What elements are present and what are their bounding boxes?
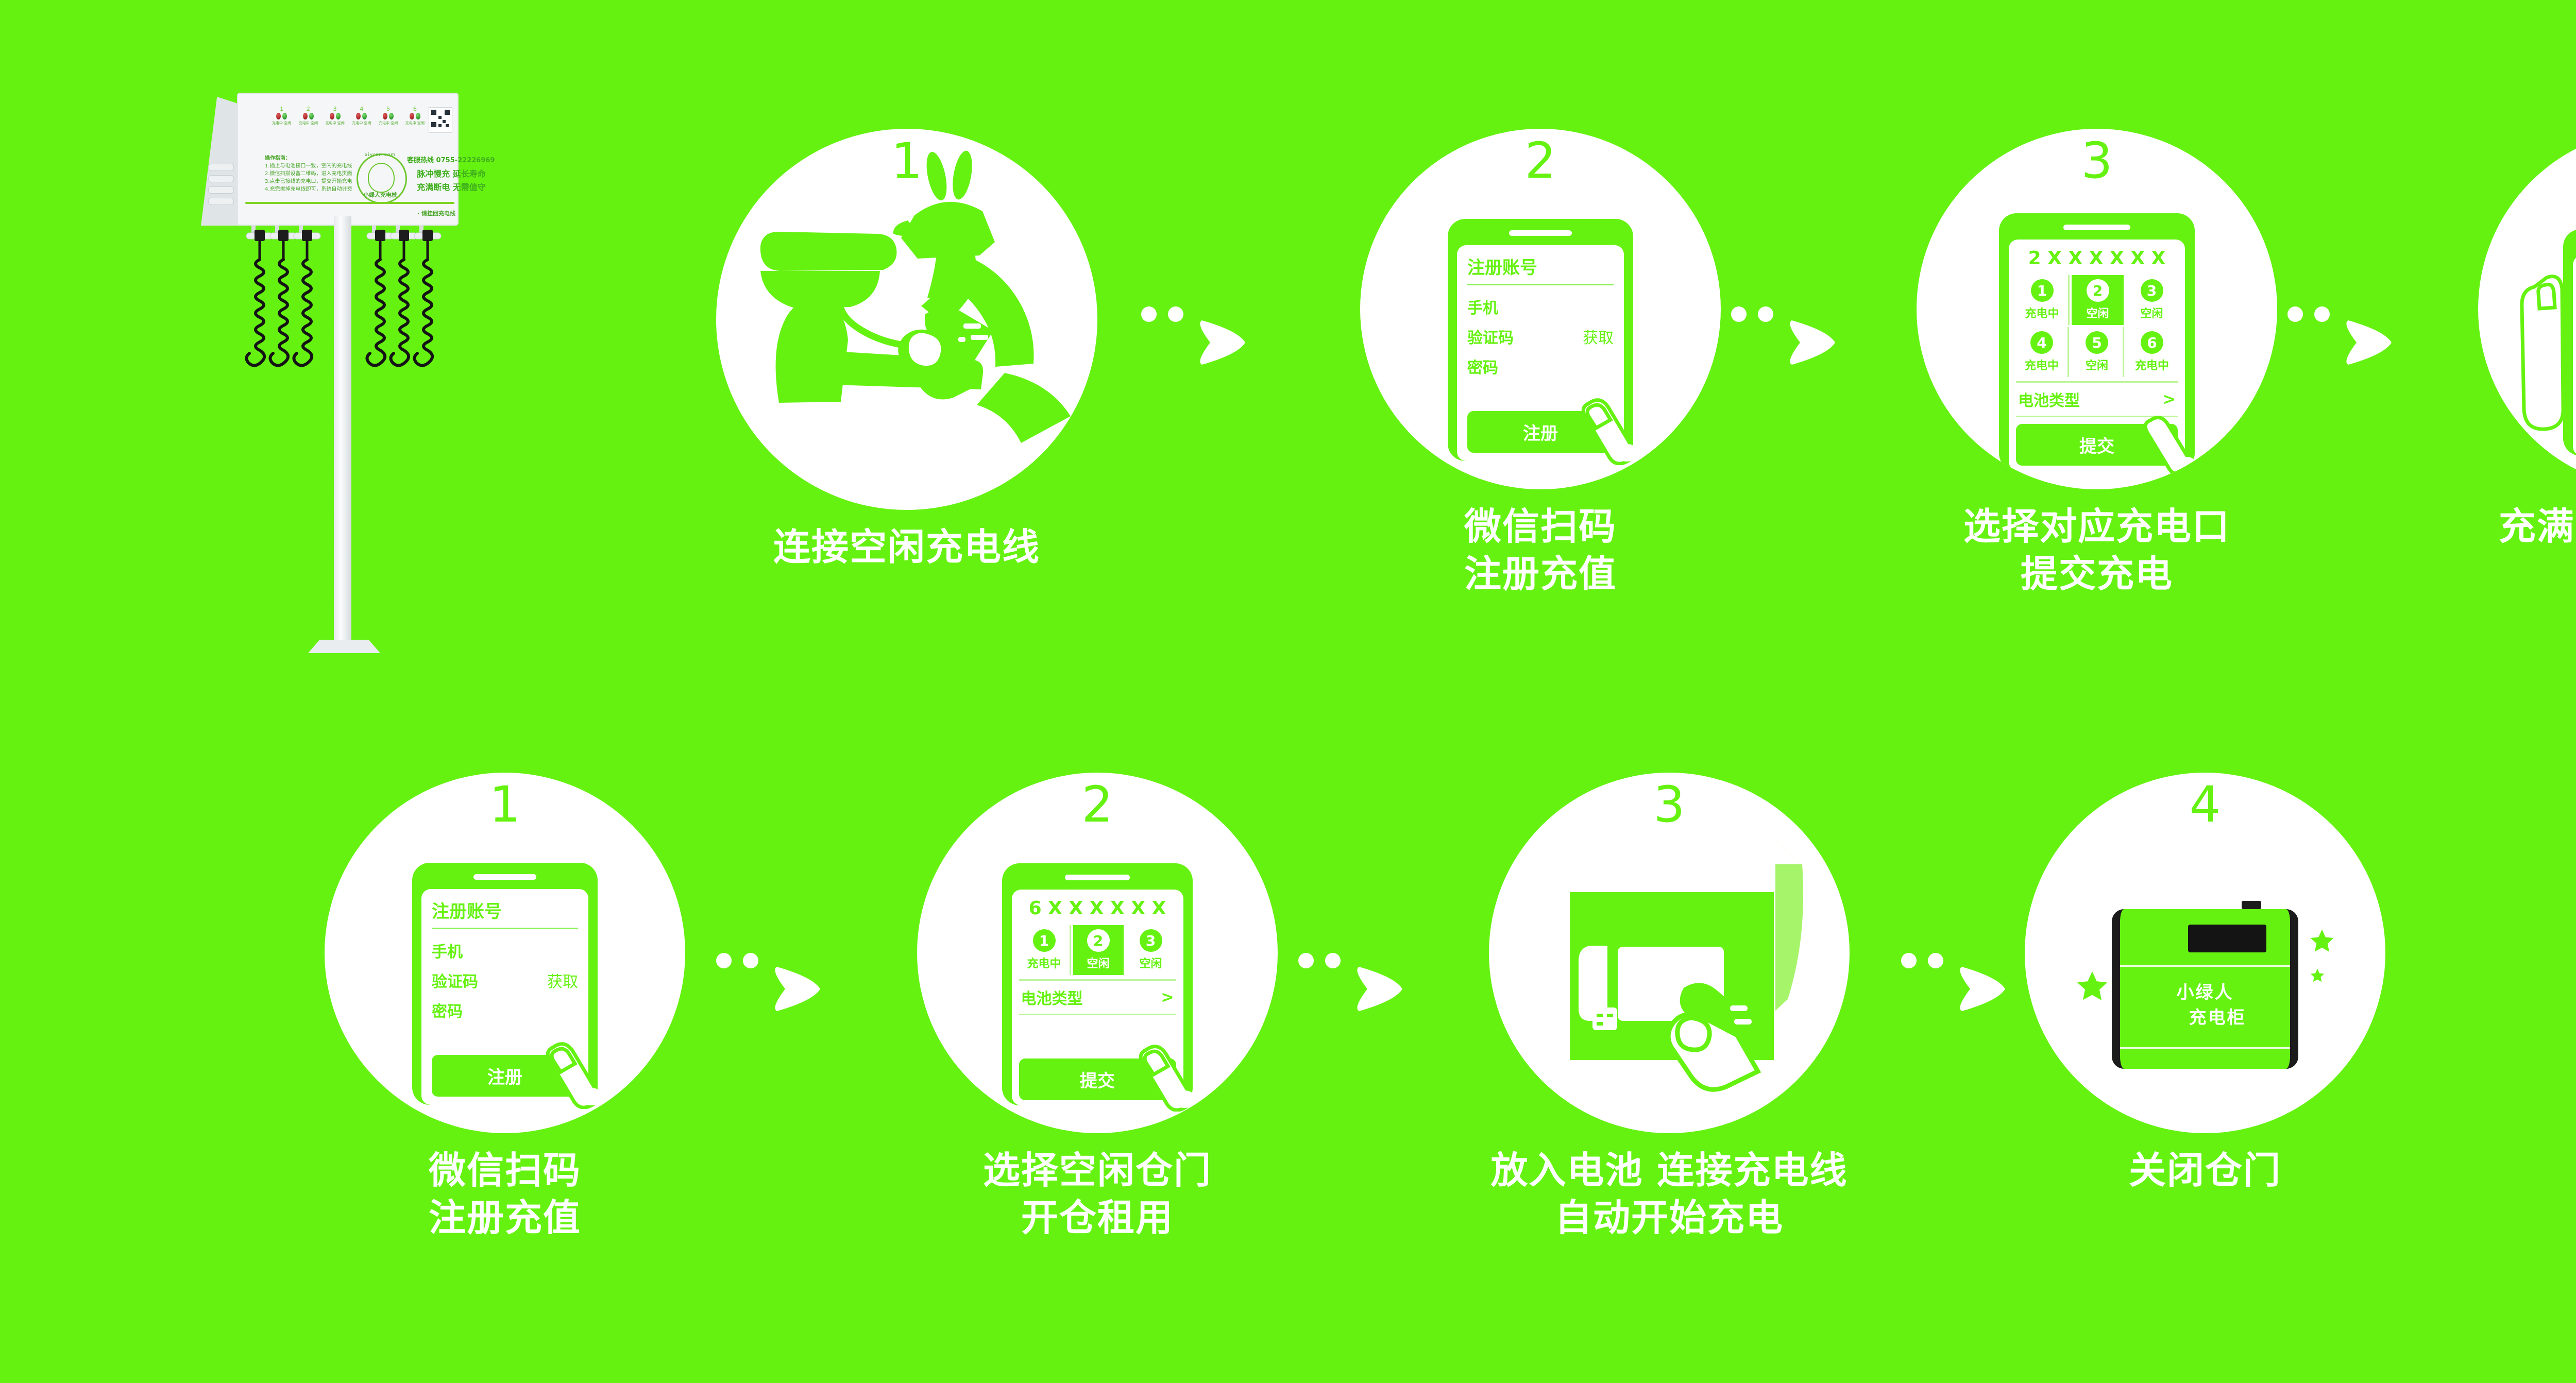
led-red-icon xyxy=(276,113,281,119)
arrow-dot xyxy=(1325,953,1341,968)
qr-code-icon xyxy=(429,107,452,133)
pole-side-slots xyxy=(208,164,234,213)
port-indicator-row: 1 充电中 空闲 2 充电中 空闲 3 充电中 空闲 4 充电中 空闲 5 xyxy=(272,106,425,126)
row1-step-4: 4 完成 xx元 详情 xyxy=(2452,129,2576,597)
cabinet-divider xyxy=(2120,965,2290,967)
row2-step-3: 3 xyxy=(1448,773,1891,1241)
port-number: 5 xyxy=(386,106,390,112)
phone-speaker-icon xyxy=(2063,225,2130,230)
step-caption: 关闭仓门 xyxy=(2129,1147,2281,1194)
row1-step-3: 3 2 X X X X X X 1 充电中 2 空闲 xyxy=(1906,129,2287,597)
row1-step-2: 2 注册账号 手机 验证码 获取 密码 xyxy=(1350,129,1731,597)
port-led-labels: 充电中 空闲 xyxy=(352,121,371,126)
arrow-separator xyxy=(2287,306,2341,322)
screen-title: 注册账号 xyxy=(1467,253,1614,285)
port-leds xyxy=(276,113,287,119)
port-number: 4 xyxy=(360,106,363,112)
pole-hotline: 客服热线 0755-22226969 xyxy=(407,155,495,164)
pointing-hand-icon xyxy=(538,1032,615,1109)
arrow-dot xyxy=(716,953,732,968)
brand-logo-top-text: xiyren.com xyxy=(357,152,404,158)
step-illustration-bubble: 2 6 X X X X X X 1 充电中 2 空闲 xyxy=(917,773,1278,1133)
cabinet-control-panel xyxy=(2188,925,2266,952)
pole-accent-bar xyxy=(245,202,454,204)
port-led-labels: 充电中 空闲 xyxy=(379,121,398,126)
port-led-labels: 充电中 空闲 xyxy=(326,121,345,126)
door-cell-2[interactable]: 2 空闲 xyxy=(1073,925,1124,975)
row2-step-4: 4 小绿人 充电柜 关闭仓门 xyxy=(2014,773,2396,1194)
chevron-right-icon: > xyxy=(1161,988,1174,1006)
pole-slogan-line-1: 脉冲慢充 延长寿命 xyxy=(405,168,498,181)
door-badge: 1 xyxy=(1033,929,1056,952)
port-led-labels: 充电中 空闲 xyxy=(272,121,291,126)
phone-mockup: 注册账号 手机 验证码 获取 密码 注册 xyxy=(412,863,598,1105)
led-green-icon xyxy=(336,113,341,119)
pointing-hand-icon xyxy=(2137,407,2204,474)
port-status: 充电中 xyxy=(2025,356,2059,373)
port-grid-row: 4 充电中 5 空闲 6 充电中 xyxy=(2016,327,2178,377)
step-number: 4 xyxy=(2025,780,2385,829)
chevron-right-icon: > xyxy=(2163,390,2176,408)
arrow-dot xyxy=(1901,953,1917,968)
port-led-labels: 充电中 空闲 xyxy=(405,121,425,126)
field-label: 密码 xyxy=(1467,355,1498,378)
arrow-separator xyxy=(1298,953,1352,968)
get-code-button[interactable]: 获取 xyxy=(547,969,578,992)
port-badge: 3 xyxy=(2141,279,2163,302)
step-caption: 选择对应充电口 提交充电 xyxy=(1963,503,2230,597)
port-leds xyxy=(410,113,420,119)
cabinet-top-knob xyxy=(2242,901,2261,909)
arrow-dot xyxy=(743,953,758,968)
step-caption: 连接空闲充电线 xyxy=(773,523,1040,571)
led-green-icon xyxy=(362,113,367,119)
port-grid-row: 1 充电中 2 空闲 3 空闲 xyxy=(2016,275,2178,325)
step-number: 1 xyxy=(325,780,685,829)
closed-cabinet-icon: 小绿人 充电柜 xyxy=(2112,909,2298,1069)
led-green-icon xyxy=(309,113,314,119)
arrow-separator xyxy=(1141,306,1195,322)
step-illustration-bubble: 1 注册账号 手机 验证码 获取 密码 xyxy=(325,773,685,1133)
star-icon xyxy=(2308,927,2336,957)
field-label: 验证码 xyxy=(1467,325,1514,348)
door-badge: 2 xyxy=(1087,929,1110,952)
door-grid-row: 1 充电中 2 空闲 3 空闲 xyxy=(1019,925,1176,975)
step-caption: 选择空闲仓门 开仓租用 xyxy=(983,1147,1212,1241)
form-field-row[interactable]: 手机 xyxy=(432,935,578,965)
port-badge: 6 xyxy=(2141,331,2163,354)
step-illustration-bubble: 3 xyxy=(1489,773,1850,1133)
step-number: 2 xyxy=(917,780,1278,829)
pointing-hand-icon xyxy=(1573,388,1651,465)
phone-mockup: 6 X X X X X X 1 充电中 2 空闲 xyxy=(1002,863,1193,1105)
star-icon xyxy=(2309,967,2326,986)
device-code: 6 X X X X X X xyxy=(1019,895,1176,925)
port-cell-5[interactable]: 5 空闲 xyxy=(2071,327,2124,377)
port-indicator: 5 充电中 空闲 xyxy=(379,106,398,126)
brand-logo-mascot xyxy=(368,163,395,193)
step-illustration-bubble: 2 注册账号 手机 验证码 获取 密码 xyxy=(1360,129,1721,489)
port-indicator: 3 充电中 空闲 xyxy=(326,106,345,126)
phone-mockup: 2 X X X X X X 1 充电中 2 空闲 xyxy=(1999,213,2195,471)
pole-slogan-line-2: 充满断电 无需值守 xyxy=(405,181,498,194)
cabinet-brand-line2: 充电柜 xyxy=(2164,1005,2246,1031)
port-led-labels: 充电中 空闲 xyxy=(299,121,318,126)
pole-footer-note: · 请挂回充电线 xyxy=(417,209,455,217)
step-illustration-bubble: 4 小绿人 充电柜 xyxy=(2025,773,2385,1133)
door-cell-3[interactable]: 3 空闲 xyxy=(1126,925,1176,975)
door-grid: 1 充电中 2 空闲 3 空闲 xyxy=(1019,925,1176,975)
port-indicator: 4 充电中 空闲 xyxy=(352,106,371,126)
arrow-separator xyxy=(1731,306,1785,322)
step-number: 4 xyxy=(2478,136,2576,185)
holding-hand-icon xyxy=(2514,270,2576,440)
form-field-row[interactable]: 密码 xyxy=(1467,351,1614,381)
port-indicator: 2 充电中 空闲 xyxy=(299,106,318,126)
port-badge: 5 xyxy=(2086,331,2108,354)
arrow-dot xyxy=(1168,306,1183,322)
port-leds xyxy=(330,113,341,119)
screen-title: 注册账号 xyxy=(432,897,578,929)
arrow-dot xyxy=(1731,306,1747,322)
step-caption: 充满自停/拔掉停止 自动计费 xyxy=(2499,503,2576,597)
instructions-title: 操作指南： xyxy=(265,155,352,162)
pole-base xyxy=(308,640,380,653)
device-code: 2 X X X X X X xyxy=(2016,245,2178,275)
star-icon xyxy=(2074,968,2110,1006)
phone-speaker-icon xyxy=(473,874,536,880)
phone-mockup: 完成 xx元 详情 xyxy=(2563,229,2576,456)
form-field-row[interactable]: 密码 xyxy=(432,995,578,1025)
cable-hooks-and-cables xyxy=(245,226,462,447)
port-status: 空闲 xyxy=(2140,304,2163,321)
phone-speaker-icon xyxy=(1509,230,1572,236)
charging-pole-illustration: 1 充电中 空闲 2 充电中 空闲 3 充电中 空闲 4 充电中 空闲 5 xyxy=(196,62,515,670)
pole-instructions: 操作指南： 1.插上与电池接口一致，空闲的充电线 2.微信扫描设备二维码，进入充… xyxy=(265,155,352,193)
port-number: 2 xyxy=(307,106,310,112)
led-green-icon xyxy=(416,113,420,119)
field-label: 手机 xyxy=(432,939,463,962)
form-field-row[interactable]: 验证码 获取 xyxy=(1467,321,1614,351)
port-cell-3[interactable]: 3 空闲 xyxy=(2126,275,2178,325)
field-label: 手机 xyxy=(1467,295,1498,318)
arrow-separator xyxy=(716,953,770,968)
port-status: 空闲 xyxy=(2086,304,2109,321)
battery-type-label: 电池类型 xyxy=(2018,388,2080,411)
port-number: 1 xyxy=(280,106,283,112)
port-cell-2[interactable]: 2 空闲 xyxy=(2072,275,2124,325)
phone-speaker-icon xyxy=(1065,875,1130,880)
step-number: 3 xyxy=(1489,780,1850,829)
arrow-dot xyxy=(1928,953,1943,968)
door-cell-1[interactable]: 1 充电中 xyxy=(1019,925,1071,975)
arrow-dot xyxy=(1141,306,1157,322)
port-status: 充电中 xyxy=(2025,304,2059,321)
battery-type-label: 电池类型 xyxy=(1021,986,1083,1009)
led-red-icon xyxy=(303,113,308,119)
step-caption: 放入电池 连接充电线 自动开始充电 xyxy=(1490,1147,1848,1241)
get-code-button[interactable]: 获取 xyxy=(1583,325,1614,348)
arrow-dot xyxy=(2314,306,2330,322)
port-indicator: 6 充电中 空闲 xyxy=(405,106,425,126)
step-illustration-bubble: 4 完成 xx元 详情 xyxy=(2478,129,2576,489)
field-label: 密码 xyxy=(432,999,463,1021)
pointing-hand-icon xyxy=(1131,1034,1208,1112)
arrow-dot xyxy=(1758,306,1773,322)
instruction-line: 2.微信扫描设备二维码，进入充电页面 xyxy=(265,170,352,178)
step-caption: 微信扫码 注册充值 xyxy=(429,1147,581,1241)
phone-mockup: 注册账号 手机 验证码 获取 密码 注册 xyxy=(1448,219,1633,461)
port-leds xyxy=(383,113,394,119)
door-status: 空闲 xyxy=(1139,954,1162,971)
cabinet-brand-line1: 小绿人 xyxy=(2177,982,2234,1003)
port-grid: 1 充电中 2 空闲 3 空闲 xyxy=(2016,275,2178,377)
port-badge: 2 xyxy=(2087,279,2109,302)
field-label: 验证码 xyxy=(432,969,478,992)
door-status: 空闲 xyxy=(1087,954,1109,971)
port-status: 空闲 xyxy=(2086,356,2108,373)
port-cell-4[interactable]: 4 充电中 xyxy=(2016,327,2069,377)
port-cell-6[interactable]: 6 充电中 xyxy=(2126,327,2178,377)
cabinet-brand: 小绿人 充电柜 xyxy=(2164,980,2246,1031)
led-green-icon xyxy=(282,113,287,119)
port-number: 3 xyxy=(333,106,337,112)
arrow-dot xyxy=(2287,306,2303,322)
led-green-icon xyxy=(389,113,394,119)
door-badge: 3 xyxy=(1140,929,1162,952)
step-illustration-bubble: 1 xyxy=(716,129,1097,510)
led-red-icon xyxy=(410,113,414,119)
instruction-line: 1.插上与电池接口一致，空闲的充电线 xyxy=(265,162,352,170)
instruction-line: 3.点击已接线的充电口，提交开始充电 xyxy=(265,178,352,185)
row1-step-1: 1 xyxy=(701,129,1113,571)
port-badge: 4 xyxy=(2030,331,2053,354)
port-leds xyxy=(356,113,367,119)
instruction-line: 4.充完拔掉充电线即可，系统自动计费 xyxy=(265,185,352,193)
step-number: 1 xyxy=(716,136,1097,186)
port-cell-1[interactable]: 1 充电中 xyxy=(2016,275,2070,325)
led-red-icon xyxy=(330,113,334,119)
port-indicator: 1 充电中 空闲 xyxy=(272,106,291,126)
step-caption: 微信扫码 注册充值 xyxy=(1464,503,1617,597)
led-red-icon xyxy=(356,113,361,119)
port-status: 充电中 xyxy=(2135,356,2169,373)
pole-post xyxy=(334,216,351,644)
port-number: 6 xyxy=(413,106,417,112)
form-field-row[interactable]: 手机 xyxy=(1467,292,1614,321)
infographic-canvas: 1 充电中 空闲 2 充电中 空闲 3 充电中 空闲 4 充电中 空闲 5 xyxy=(0,0,2576,1383)
port-badge: 1 xyxy=(2031,279,2054,302)
cabinet-divider xyxy=(2120,1047,2290,1049)
arrow-dot xyxy=(1298,953,1314,968)
row2-step-1: 1 注册账号 手机 验证码 获取 密码 xyxy=(314,773,696,1241)
battery-type-row[interactable]: 电池类型 > xyxy=(1019,979,1176,1015)
led-red-icon xyxy=(383,113,387,119)
port-leds xyxy=(303,113,314,119)
arrow-separator xyxy=(1901,953,1955,968)
step-number: 2 xyxy=(1360,136,1721,185)
form-field-row[interactable]: 验证码 获取 xyxy=(432,965,578,995)
row2-step-2: 2 6 X X X X X X 1 充电中 2 空闲 xyxy=(907,773,1288,1241)
step-number: 3 xyxy=(1917,136,2277,185)
door-status: 充电中 xyxy=(1027,954,1061,971)
step-illustration-bubble: 3 2 X X X X X X 1 充电中 2 空闲 xyxy=(1917,129,2277,489)
